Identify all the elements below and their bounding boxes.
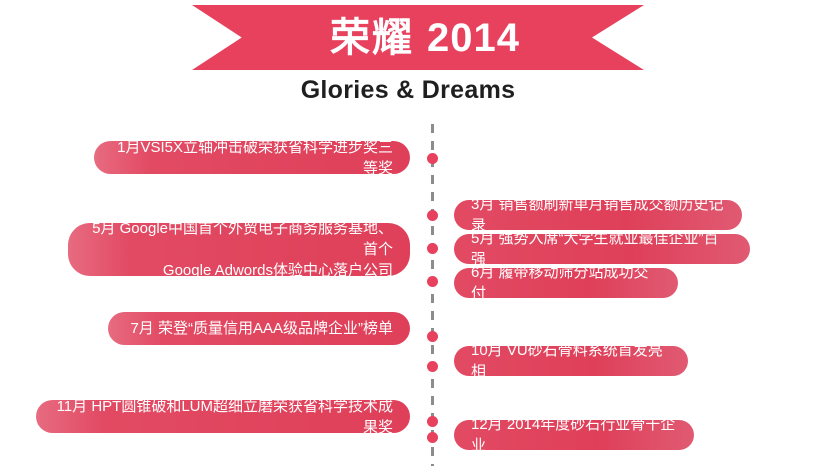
- timeline-dot: [427, 361, 438, 372]
- event-text-line2: Google Adwords体验中心落户公司: [163, 260, 393, 281]
- timeline-dot: [427, 276, 438, 287]
- timeline-event-left[interactable]: 11月 HPT圆锥破和LUM超细立磨荣获省科学技术成果奖: [36, 400, 410, 433]
- banner-title-year: 2014: [427, 18, 520, 58]
- subtitle: Glories & Dreams: [0, 76, 816, 105]
- event-text: 1月VSI5X立轴冲击破荣获省科学进步奖三等奖: [111, 137, 393, 179]
- timeline-event-left[interactable]: 7月 荣登“质量信用AAA级品牌企业”榜单: [108, 312, 410, 345]
- timeline-dot: [427, 243, 438, 254]
- event-text: 11月 HPT圆锥破和LUM超细立磨荣获省科学技术成果奖: [53, 396, 393, 438]
- timeline-event-right[interactable]: 6月 履带移动筛分站成功交付: [454, 268, 678, 298]
- timeline-event-left[interactable]: 5月 Google中国首个外贸电子商务服务基地、首个 Google Adword…: [68, 223, 410, 276]
- timeline-dot: [427, 416, 438, 427]
- timeline-dot: [427, 331, 438, 342]
- event-text: 10月 VU砂石骨料系统首发亮相: [471, 340, 671, 382]
- title-banner: 荣耀 2014: [192, 5, 644, 70]
- timeline-dot: [427, 210, 438, 221]
- timeline-axis: [431, 124, 434, 466]
- timeline-event-right[interactable]: 5月 强势入席“大学生就业最佳企业”百强: [454, 234, 750, 264]
- banner-title-chinese: 荣耀: [330, 18, 414, 58]
- timeline-event-right[interactable]: 10月 VU砂石骨料系统首发亮相: [454, 346, 688, 376]
- event-text: 12月 2014年度砂石行业骨干企业: [471, 414, 677, 456]
- timeline-event-left[interactable]: 1月VSI5X立轴冲击破荣获省科学进步奖三等奖: [94, 141, 410, 174]
- timeline-event-right[interactable]: 12月 2014年度砂石行业骨干企业: [454, 420, 694, 450]
- event-text: 5月 Google中国首个外贸电子商务服务基地、首个: [85, 218, 393, 260]
- event-text: 6月 履带移动筛分站成功交付: [471, 262, 661, 304]
- timeline-dot: [427, 432, 438, 443]
- timeline-event-right[interactable]: 3月 销售额刷新单月销售成交额历史记录: [454, 200, 742, 230]
- event-text: 7月 荣登“质量信用AAA级品牌企业”榜单: [130, 318, 393, 339]
- timeline-dot: [427, 153, 438, 164]
- banner-title-group: 荣耀 2014: [192, 5, 644, 70]
